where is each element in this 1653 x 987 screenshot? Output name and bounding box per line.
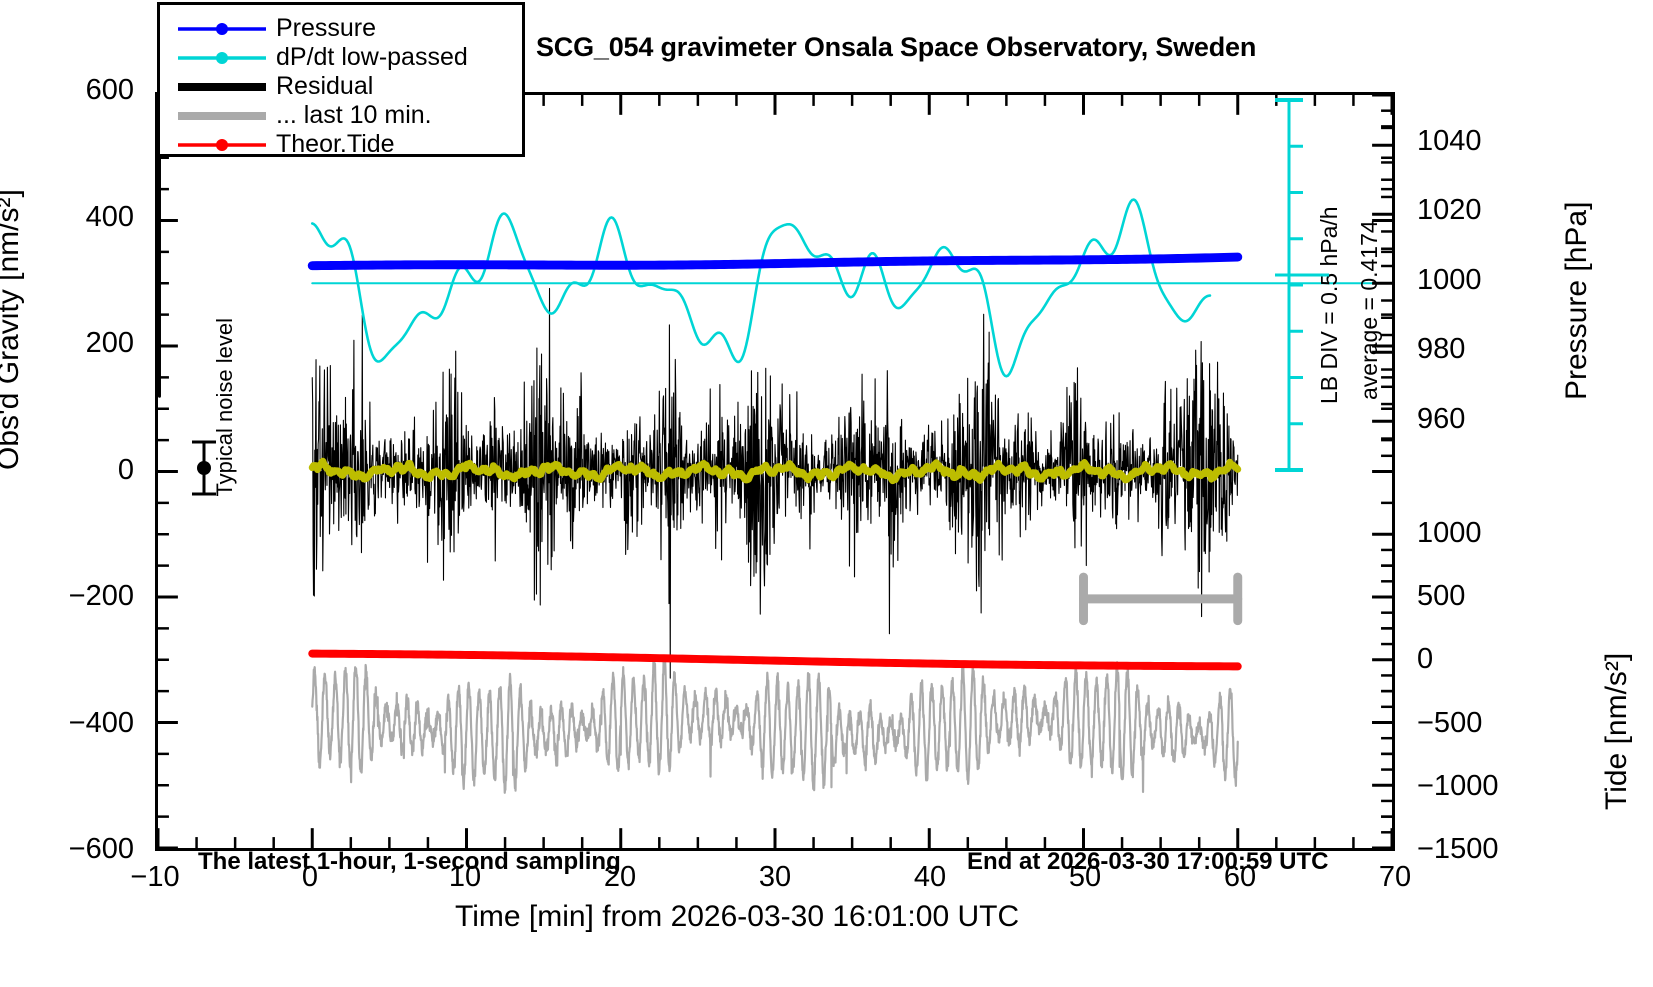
tick-label: 500 — [1417, 580, 1567, 613]
tick-label: 600 — [14, 74, 134, 107]
tick-label: 960 — [1417, 403, 1567, 436]
legend-label: Pressure — [276, 14, 376, 43]
tick-label: 40 — [885, 861, 975, 894]
tick-label: −10 — [110, 861, 200, 894]
legend-swatch — [174, 73, 270, 101]
legend: PressuredP/dt low-passedResidual... last… — [157, 2, 525, 157]
legend-item[interactable]: Pressure — [160, 15, 522, 43]
tick-label: 200 — [14, 327, 134, 360]
legend-swatch — [174, 102, 270, 130]
legend-item[interactable]: dP/dt low-passed — [160, 44, 522, 72]
legend-label: Theor.Tide — [276, 130, 395, 159]
sampling-note: The latest 1-hour, 1-second sampling — [198, 848, 621, 876]
legend-item[interactable]: ... last 10 min. — [160, 102, 522, 130]
page-title: SCG_054 gravimeter Onsala Space Observat… — [536, 32, 1256, 63]
end-time-note: End at 2026-03-30 17:00:59 UTC — [967, 848, 1329, 876]
legend-item[interactable]: Theor.Tide — [160, 131, 522, 159]
axis-ticks — [158, 95, 1392, 848]
tick-label: −1500 — [1417, 833, 1567, 866]
tick-label: 1040 — [1417, 125, 1567, 158]
tick-label: 1000 — [1417, 264, 1567, 297]
average-annotation: average = 0.4174 — [1356, 220, 1383, 400]
tick-label: 980 — [1417, 333, 1567, 366]
tick-label: 0 — [1417, 643, 1567, 676]
x-axis-label: Time [min] from 2026-03-30 16:01:00 UTC — [455, 900, 1019, 934]
legend-swatch — [174, 131, 270, 159]
legend-swatch — [174, 15, 270, 43]
legend-label: Residual — [276, 72, 373, 101]
y-axis-label-right-tide: Tide [nm/s²] — [1600, 653, 1634, 810]
tick-label: 0 — [14, 454, 134, 487]
tick-label: −500 — [1417, 707, 1567, 740]
tick-label: −200 — [14, 580, 134, 613]
plot-area — [155, 92, 1395, 851]
tick-label: 400 — [14, 201, 134, 234]
lb-div-scale-axis — [1255, 80, 1315, 500]
tick-label: 30 — [730, 861, 820, 894]
tick-label: −400 — [14, 707, 134, 740]
lb-div-annotation: LB DIV = 0.5 hPa/h — [1316, 206, 1343, 404]
y-axis-label-right-pressure: Pressure [hPa] — [1560, 202, 1594, 400]
legend-label: dP/dt low-passed — [276, 43, 468, 72]
tick-label: −1000 — [1417, 770, 1567, 803]
tick-label: 1000 — [1417, 517, 1567, 550]
tick-label: 1020 — [1417, 194, 1567, 227]
legend-swatch — [174, 44, 270, 72]
legend-item[interactable]: Residual — [160, 73, 522, 101]
legend-label: ... last 10 min. — [276, 101, 432, 130]
typical-noise-level-label: Typical noise level — [212, 318, 238, 497]
